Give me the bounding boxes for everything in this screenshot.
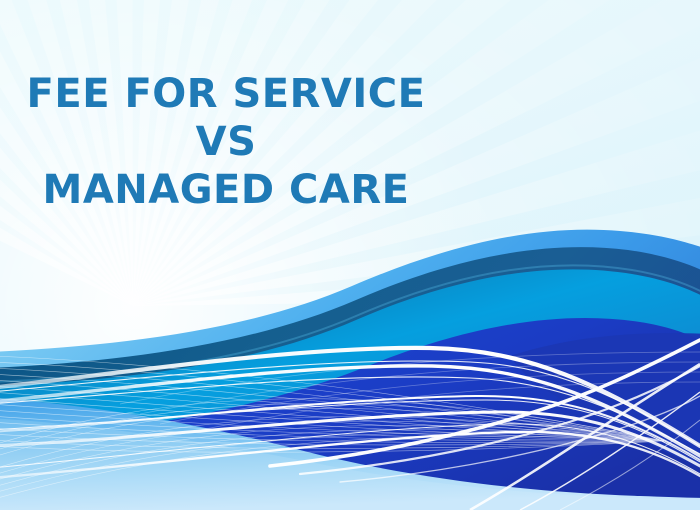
title-line-1: FEE FOR SERVICE: [0, 74, 452, 114]
banner-canvas: FEE FOR SERVICE VS MANAGED CARE: [0, 0, 700, 510]
title-line-3: MANAGED CARE: [0, 170, 452, 210]
title-line-2: VS: [0, 122, 452, 162]
page-title: FEE FOR SERVICE VS MANAGED CARE: [0, 74, 452, 210]
